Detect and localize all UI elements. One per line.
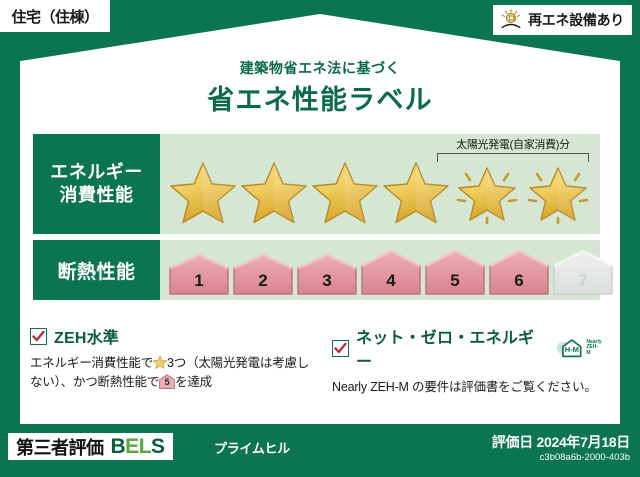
insulation-level-item: 3 [296, 252, 358, 296]
star-icon [241, 160, 307, 224]
house-icon-inactive [552, 248, 614, 296]
star-rating-item-solar [452, 156, 521, 228]
nearly-zeh-m-caption: Nearly ZEH-M [586, 340, 602, 357]
insulation-label: 断熱性能 [57, 257, 135, 284]
inline-house-value: 5 [159, 376, 175, 390]
insulation-level-item: 5 [424, 248, 486, 296]
star-rating-item-solar [523, 156, 592, 228]
insulation-level-item-inactive: 7 [552, 248, 614, 296]
insulation-level-item: 1 [168, 252, 230, 296]
note-net-zero-header: ネット・ゼロ・エネルギー H-M Nearly ZEH-M [332, 324, 602, 372]
note-zeh-standard-title: ZEH水準 [54, 324, 119, 348]
house-icon [488, 248, 550, 296]
energy-label-line2: 消費性能 [60, 184, 134, 207]
note-zeh-text-1: エネルギー消費性能で [30, 356, 153, 370]
energy-performance-panel: 太陽光発電(自家消費)分 [160, 134, 600, 234]
note-zeh-standard-header: ZEH水準 [30, 324, 312, 348]
label-subtitle: 建築物省エネ法に基づく [0, 58, 640, 78]
sun-icon [499, 8, 523, 32]
insulation-level-item: 6 [488, 248, 550, 296]
star-rating-item [239, 156, 308, 228]
bels-logo-box: 第三者評価 BELS [8, 433, 173, 460]
energy-performance-label-box: エネルギー 消費性能 [33, 134, 160, 234]
house-icon [424, 248, 486, 296]
star-rating-item [310, 156, 379, 228]
star-rating-item [168, 156, 237, 228]
label-title: 省エネ性能ラベル [0, 78, 640, 117]
insulation-level-item: 4 [360, 248, 422, 296]
house-icon [232, 252, 294, 296]
energy-performance-label: 住宅（住棟） 再エネ設備あり 建築物省エネ法に基づく 省エネ性能ラベル ハウス大… [0, 0, 640, 477]
evaluation-date: 評価日 2024年7月18日 [492, 432, 630, 452]
star-icon-with-rays [454, 160, 520, 224]
house-icon [296, 252, 358, 296]
building-type-label: 住宅（住棟） [11, 6, 98, 27]
building-type-tab: 住宅（住棟） [0, 0, 110, 32]
insulation-performance-row: 断熱性能 1 [33, 240, 600, 300]
label-footer: 第三者評価 BELS プライムヒル 評価日 2024年7月18日 c3b08a6… [0, 424, 640, 477]
star-icon [170, 160, 236, 224]
bels-letter-b: B [111, 435, 126, 458]
note-net-zero-body: Nearly ZEH-M の要件は評価書をご覧ください。 [332, 378, 602, 397]
nearly-zeh-m-badge: H-M Nearly ZEH-M [555, 336, 602, 360]
label-notes: ZEH水準 エネルギー消費性能で3つ（太陽光発電は考慮しない）、かつ断熱性能で5… [30, 324, 610, 408]
house-icon [360, 248, 422, 296]
star-rating-item [381, 156, 450, 228]
bels-letter-s: S [151, 435, 165, 458]
solar-annotation-label: 太陽光発電(自家消費)分 [437, 136, 589, 152]
project-name: プライムヒル [214, 438, 290, 457]
renewable-badge-label: 再エネ設備あり [528, 10, 624, 30]
checkbox-checked-icon [332, 340, 349, 357]
note-net-zero-title: ネット・ゼロ・エネルギー [356, 324, 544, 372]
svg-text:H-M: H-M [565, 345, 579, 354]
zeh-m-house-icon: H-M [555, 336, 585, 360]
nearly-zeh-m-caption-line2: ZEH-M [586, 344, 598, 356]
star-icon-with-rays [525, 160, 591, 224]
bels-letter-l: L [139, 435, 151, 458]
note-zeh-standard: ZEH水準 エネルギー消費性能で3つ（太陽光発電は考慮しない）、かつ断熱性能で5… [30, 324, 320, 408]
note-zeh-text-star-count: 3つ（太陽光発電 [167, 356, 260, 370]
bels-wordmark: BELS [111, 435, 165, 459]
energy-label-line1: エネルギー [50, 161, 143, 184]
house-icon [168, 252, 230, 296]
note-net-zero-energy: ネット・ゼロ・エネルギー H-M Nearly ZEH-M Nearly ZEH… [320, 324, 610, 408]
note-zeh-standard-body: エネルギー消費性能で3つ（太陽光発電は考慮しない）、かつ断熱性能で5を達成 [30, 354, 312, 393]
insulation-level-scale: 1 2 3 [168, 244, 592, 296]
solar-annotation-bracket [437, 153, 589, 162]
insulation-level-item: 2 [232, 252, 294, 296]
insulation-performance-panel: 1 2 3 [160, 240, 600, 300]
note-zeh-text-3: を達成 [175, 375, 212, 389]
star-icon [312, 160, 378, 224]
star-icon [383, 160, 449, 224]
inline-house-icon: 5 [159, 374, 175, 389]
third-party-evaluation-label: 第三者評価 [16, 434, 104, 460]
insulation-performance-label-box: 断熱性能 [33, 240, 160, 300]
checkbox-checked-icon [30, 328, 47, 345]
bels-letter-e: E [125, 435, 139, 458]
energy-performance-row: エネルギー 消費性能 太陽光発電(自家消費)分 [33, 134, 600, 234]
evaluation-id: c3b08a6b-2000-403b [540, 452, 630, 463]
inline-star-icon [153, 355, 167, 369]
renewable-equipment-badge: 再エネ設備あり [493, 5, 632, 35]
energy-star-rating [168, 154, 592, 230]
solar-generation-annotation: 太陽光発電(自家消費)分 [437, 136, 589, 162]
